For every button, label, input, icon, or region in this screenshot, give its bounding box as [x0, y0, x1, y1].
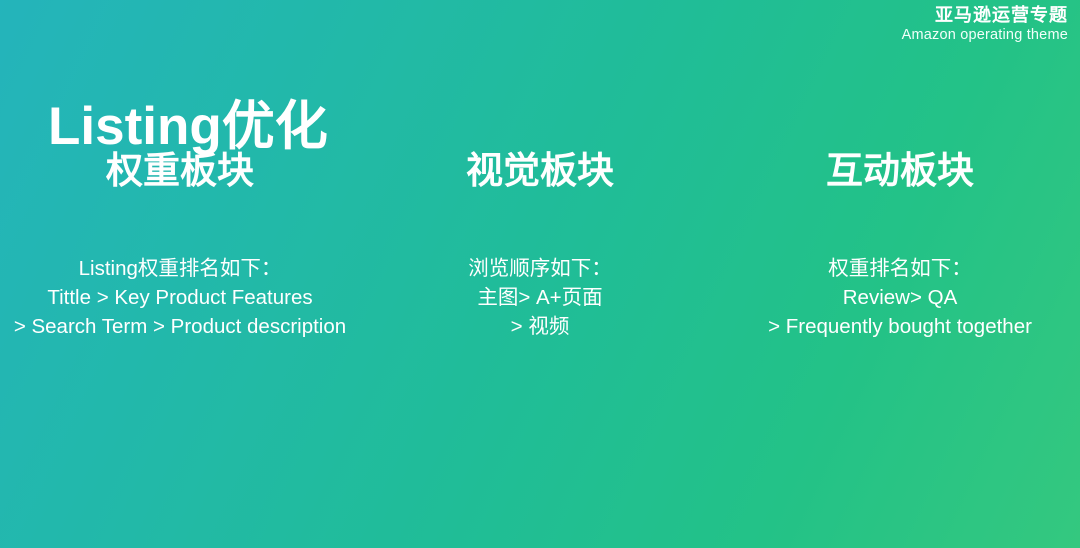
brand-header: 亚马逊运营专题 Amazon operating theme — [902, 6, 1068, 43]
brand-title-en: Amazon operating theme — [902, 28, 1068, 43]
column-line: Tittle > Key Product Features — [8, 283, 352, 312]
column-line: > 视频 — [368, 312, 712, 341]
column-line: 主图> A+页面 — [368, 283, 712, 312]
column-interaction: 互动板块 权重排名如下： Review> QA > Frequently bou… — [720, 148, 1080, 341]
column-body: Listing权重排名如下： Tittle > Key Product Feat… — [8, 194, 352, 341]
slide-canvas: 亚马逊运营专题 Amazon operating theme Listing优化… — [0, 0, 1080, 548]
column-body: 权重排名如下： Review> QA > Frequently bought t… — [728, 194, 1072, 341]
brand-title-cn: 亚马逊运营专题 — [902, 6, 1068, 25]
column-heading: 视觉板块 — [368, 148, 712, 194]
column-line: Listing权重排名如下： — [8, 254, 352, 283]
column-line: > Frequently bought together — [728, 312, 1072, 341]
column-weight: 权重板块 Listing权重排名如下： Tittle > Key Product… — [0, 148, 360, 341]
column-body: 浏览顺序如下： 主图> A+页面 > 视频 — [368, 194, 712, 341]
column-heading: 权重板块 — [8, 148, 352, 194]
column-visual: 视觉板块 浏览顺序如下： 主图> A+页面 > 视频 — [360, 148, 720, 341]
column-line: > Search Term > Product description — [8, 312, 352, 341]
column-line: 权重排名如下： — [728, 254, 1072, 283]
columns-container: 权重板块 Listing权重排名如下： Tittle > Key Product… — [0, 148, 1080, 341]
column-line: 浏览顺序如下： — [368, 254, 712, 283]
column-heading: 互动板块 — [728, 148, 1072, 194]
column-line: Review> QA — [728, 283, 1072, 312]
